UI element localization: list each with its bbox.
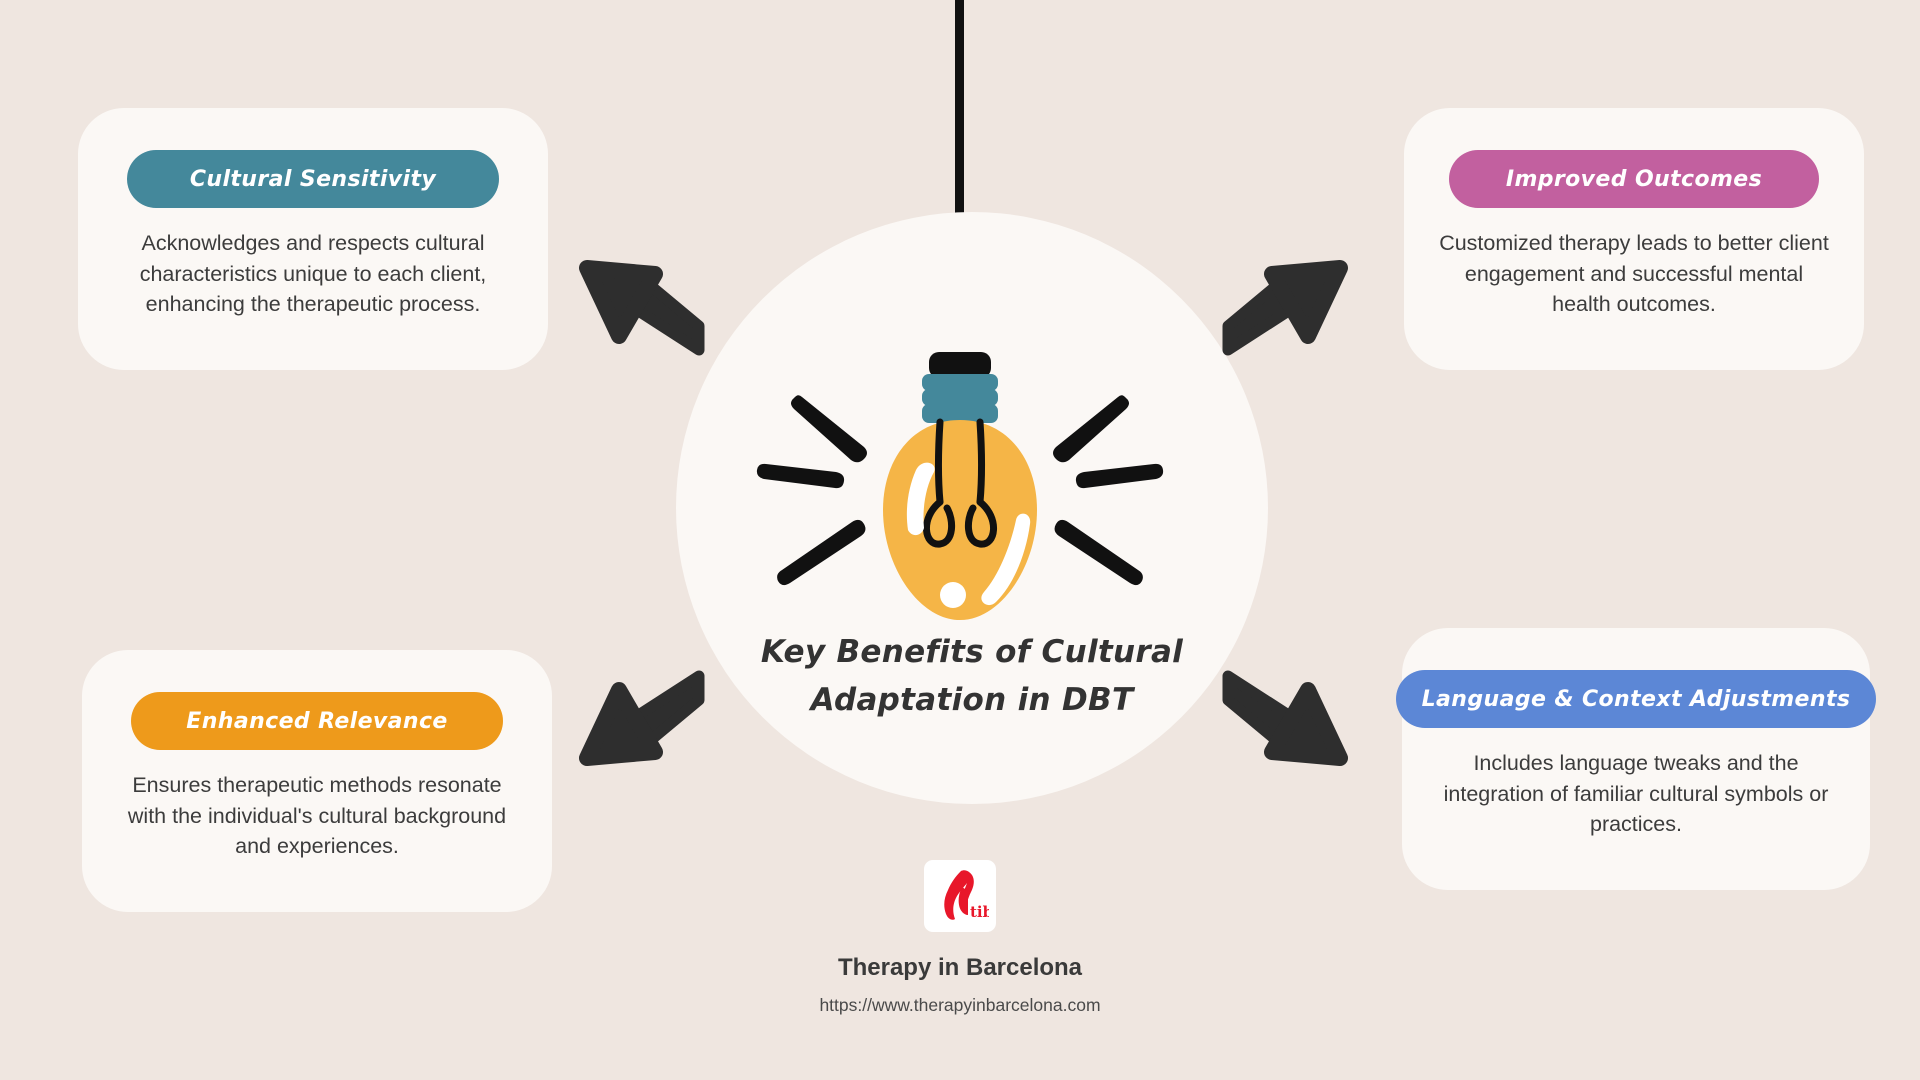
arrow-top-right xyxy=(1222,248,1352,358)
card-body-language-context-adjustments: Includes language tweaks and the integra… xyxy=(1436,748,1836,840)
footer: tib Therapy in Barcelona https://www.the… xyxy=(0,860,1920,1016)
brand-name: Therapy in Barcelona xyxy=(838,954,1082,982)
brand-logo-icon: tib xyxy=(924,860,996,932)
card-cultural-sensitivity[interactable]: Cultural Sensitivity Acknowledges and re… xyxy=(78,108,548,370)
card-title-language-context-adjustments: Language & Context Adjustments xyxy=(1396,670,1877,728)
card-improved-outcomes[interactable]: Improved Outcomes Customized therapy lea… xyxy=(1404,108,1864,370)
card-title-improved-outcomes: Improved Outcomes xyxy=(1449,150,1819,208)
card-body-enhanced-relevance: Ensures therapeutic methods resonate wit… xyxy=(117,770,517,862)
card-body-improved-outcomes: Customized therapy leads to better clien… xyxy=(1434,228,1834,320)
center-title-line2: Adaptation in DBT xyxy=(706,676,1238,724)
svg-text:tib: tib xyxy=(970,903,989,921)
infographic-canvas: Key Benefits of Cultural Adaptation in D… xyxy=(0,0,1920,1080)
card-body-cultural-sensitivity: Acknowledges and respects cultural chara… xyxy=(113,228,513,320)
lightbulb-icon xyxy=(744,352,1176,642)
arrow-top-left xyxy=(575,248,705,358)
center-title: Key Benefits of Cultural Adaptation in D… xyxy=(706,628,1238,724)
center-title-line1: Key Benefits of Cultural xyxy=(706,628,1238,676)
arrow-bottom-left xyxy=(575,668,705,778)
card-title-enhanced-relevance: Enhanced Relevance xyxy=(131,692,503,750)
card-title-cultural-sensitivity: Cultural Sensitivity xyxy=(127,150,499,208)
card-language-context-adjustments[interactable]: Language & Context Adjustments Includes … xyxy=(1402,628,1870,890)
arrow-bottom-right xyxy=(1222,668,1352,778)
brand-website[interactable]: https://www.therapyinbarcelona.com xyxy=(819,995,1100,1016)
